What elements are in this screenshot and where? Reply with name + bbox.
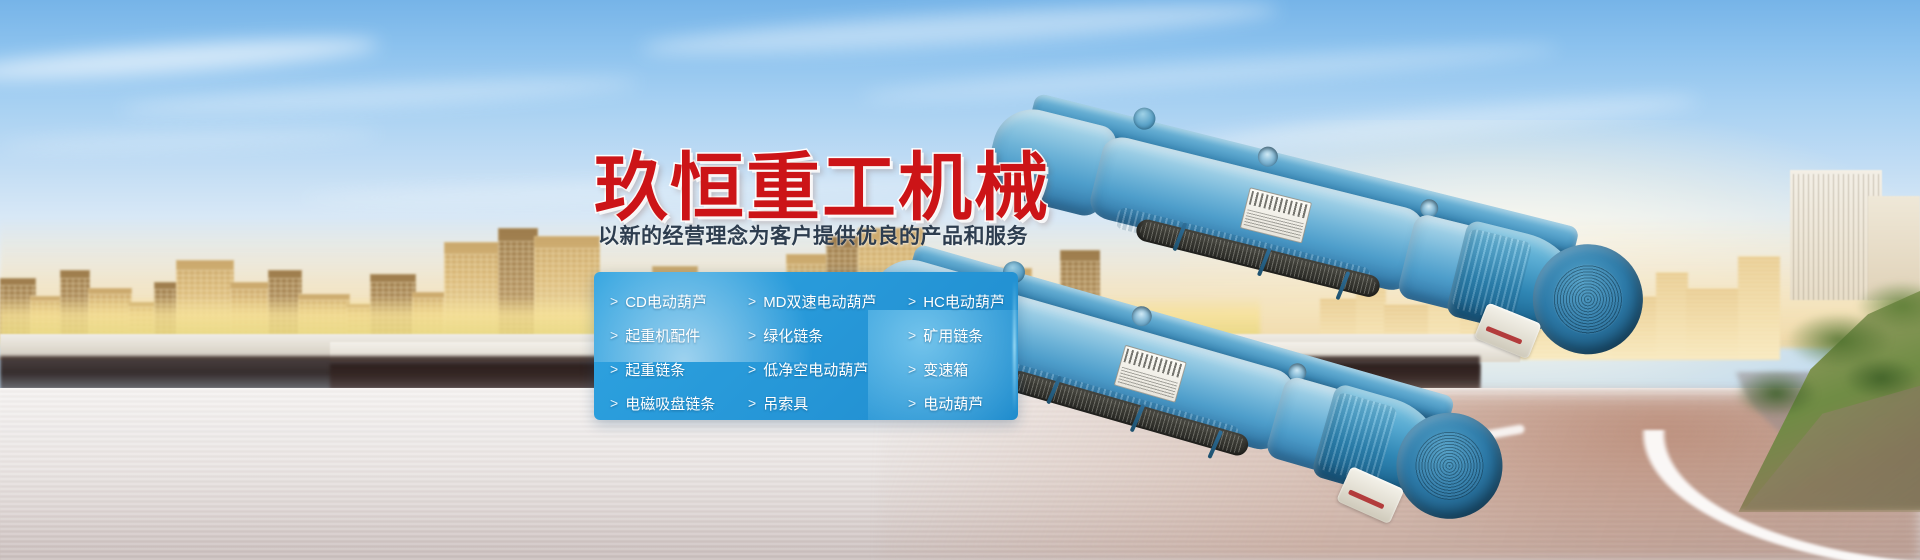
chevron-right-icon: > (610, 362, 618, 376)
product-link-cd-hoist[interactable]: > CD电动葫芦 (610, 291, 748, 312)
page-subtitle: 以新的经营理念为客户提供优良的产品和服务 (598, 220, 1028, 250)
product-link-label: 电磁吸盘链条 (625, 393, 715, 414)
chevron-right-icon: > (908, 396, 916, 410)
product-link-label: 电动葫芦 (923, 393, 983, 414)
chevron-right-icon: > (610, 294, 618, 308)
product-link-label: CD电动葫芦 (625, 291, 707, 312)
chevron-right-icon: > (748, 328, 756, 342)
page-title: 玖恒重工机械 (594, 128, 1050, 235)
product-link-label: 低净空电动葫芦 (763, 359, 868, 380)
chevron-right-icon: > (748, 362, 756, 376)
chevron-right-icon: > (908, 294, 916, 308)
hero-banner: 玖恒重工机械 以新的经营理念为客户提供优良的产品和服务 > CD电动葫芦 > M… (0, 0, 1920, 560)
product-link-lifting-chain[interactable]: > 起重链条 (610, 359, 748, 380)
chevron-right-icon: > (610, 396, 618, 410)
chevron-right-icon: > (748, 396, 756, 410)
product-link-magnetic-chuck-chain[interactable]: > 电磁吸盘链条 (610, 393, 748, 414)
product-link-electric-hoist[interactable]: > 电动葫芦 (908, 393, 1018, 414)
product-link-md-hoist[interactable]: > MD双速电动葫芦 (748, 291, 908, 312)
product-links-panel: > CD电动葫芦 > MD双速电动葫芦 > HC电动葫芦 > 起重机配件 > 绿… (594, 272, 1018, 420)
product-link-label: 绿化链条 (763, 325, 823, 346)
product-link-label: 起重链条 (625, 359, 685, 380)
chevron-right-icon: > (908, 362, 916, 376)
product-link-mining-chain[interactable]: > 矿用链条 (908, 325, 1018, 346)
product-link-label: 矿用链条 (923, 325, 983, 346)
product-link-label: 起重机配件 (625, 325, 700, 346)
product-link-label: HC电动葫芦 (923, 291, 1005, 312)
product-link-label: 吊索具 (763, 393, 808, 414)
product-link-label: MD双速电动葫芦 (763, 291, 876, 312)
chevron-right-icon: > (748, 294, 756, 308)
chevron-right-icon: > (908, 328, 916, 342)
product-link-green-chain[interactable]: > 绿化链条 (748, 325, 908, 346)
product-links-grid: > CD电动葫芦 > MD双速电动葫芦 > HC电动葫芦 > 起重机配件 > 绿… (594, 272, 1018, 420)
chevron-right-icon: > (610, 328, 618, 342)
product-link-gearbox[interactable]: > 变速箱 (908, 359, 1018, 380)
product-link-low-headroom-hoist[interactable]: > 低净空电动葫芦 (748, 359, 908, 380)
product-photo-hoists (860, 60, 1920, 460)
product-link-hc-hoist[interactable]: > HC电动葫芦 (908, 291, 1018, 312)
product-link-crane-parts[interactable]: > 起重机配件 (610, 325, 748, 346)
product-link-slings[interactable]: > 吊索具 (748, 393, 908, 414)
product-link-label: 变速箱 (923, 359, 968, 380)
